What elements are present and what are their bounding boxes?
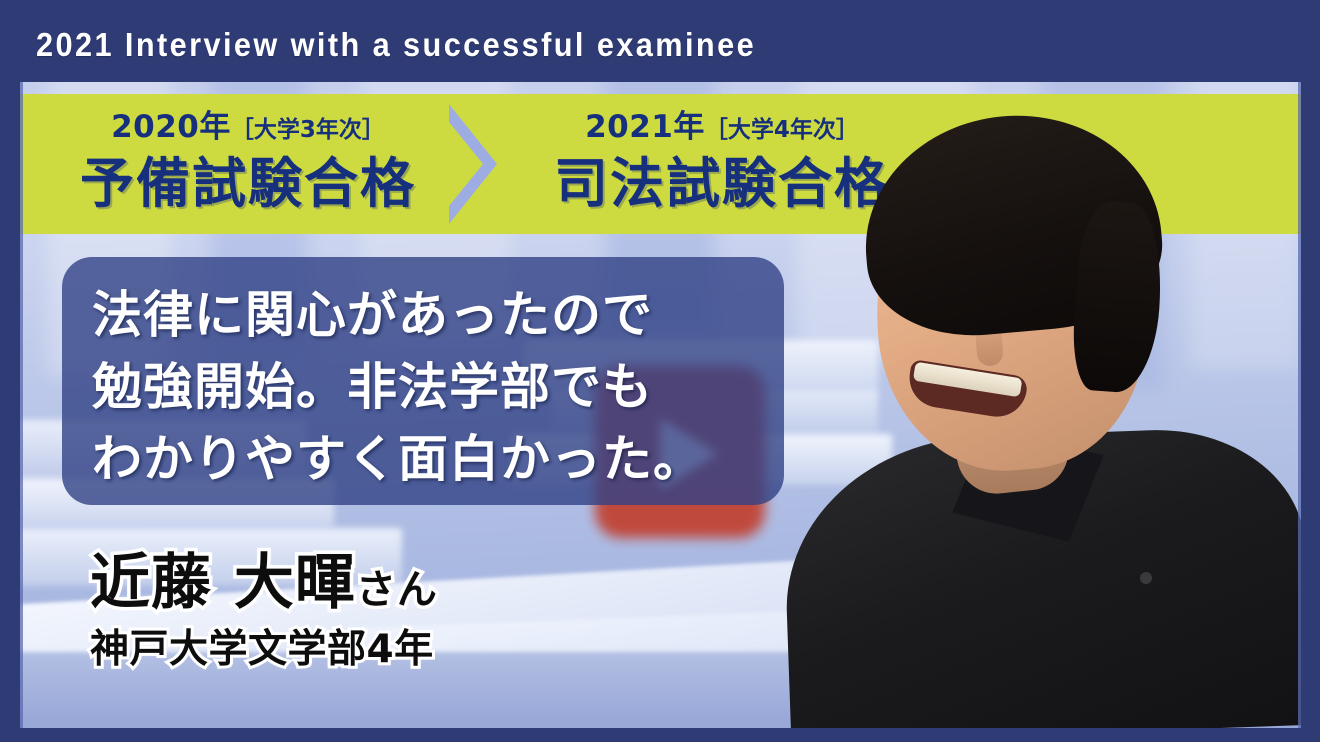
photo-panel: 2020年［大学3年次］ 予備試験合格 2021年［大学4年次］ 司法試験合格 [20,82,1301,728]
quote-box: 法律に関心があったので 勉強開始。非法学部でも わかりやすく面白かった。 [62,257,784,505]
chevron-right-icon-inner [449,122,483,206]
achievement-left-title: 予備試験合格 [38,153,458,215]
profile-block: 近藤 大暉さん 神戸大学文学部4年 [90,550,438,673]
quote-text: 法律に関心があったので 勉強開始。非法学部でも わかりやすく面白かった。 [92,279,766,495]
quote-line: わかりやすく面白かった。 [92,423,766,495]
achievement-left-year: 2020年［大学3年次］ [38,104,458,153]
quote-line: 法律に関心があったので [92,279,766,351]
achievement-left: 2020年［大学3年次］ 予備試験合格 [38,94,458,215]
quote-line: 勉強開始。非法学部でも [92,351,766,423]
video-thumbnail: 2021 Interview with a successful examine… [0,0,1320,742]
profile-affiliation: 神戸大学文学部4年 [90,627,438,673]
profile-name: 近藤 大暉さん [90,550,438,623]
interviewee-portrait [780,82,1301,728]
page-title: 2021 Interview with a successful examine… [36,27,756,63]
